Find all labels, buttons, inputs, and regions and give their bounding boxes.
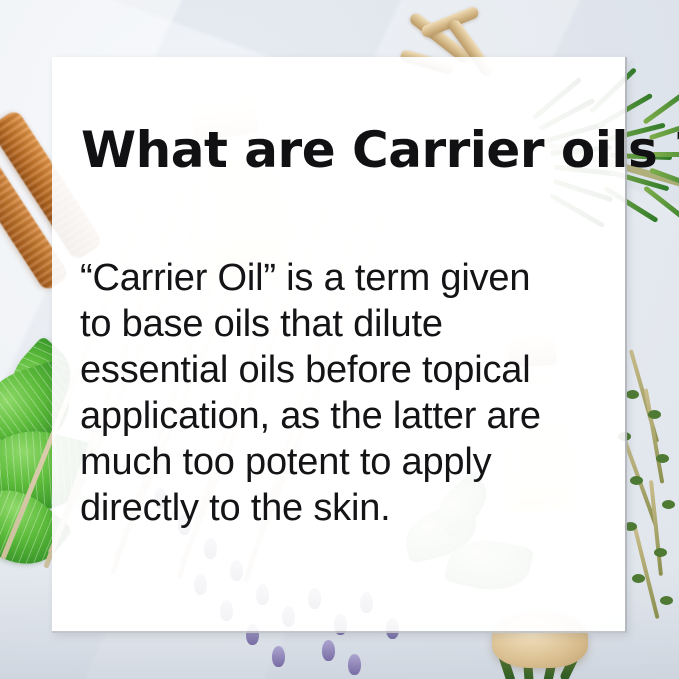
thyme-leaf [632, 574, 645, 583]
thyme-stem [649, 480, 663, 576]
rosemary-needle [643, 185, 679, 227]
lavender-bud [322, 640, 335, 661]
body-line: to base oils that dilute [80, 301, 616, 347]
body-line: application, as the latter are [80, 393, 616, 439]
body-line: essential oils before topical [80, 347, 616, 393]
lavender-bud [272, 646, 285, 667]
rosemary-needle [642, 84, 679, 124]
thyme-leaf [626, 390, 639, 399]
thyme-stem [644, 388, 665, 483]
thyme-leaf [630, 476, 643, 485]
thyme-leaf [648, 410, 661, 419]
panel-content: What are Carrier oils ? “Carrier Oil” is… [52, 57, 625, 631]
text-overlay-panel: What are Carrier oils ? “Carrier Oil” is… [52, 57, 627, 633]
lavender-bud [348, 654, 361, 675]
body-line: much too potent to apply [80, 439, 616, 485]
thyme-leaf [654, 548, 667, 557]
body-line: directly to the skin. [80, 485, 616, 531]
page-title: What are Carrier oils ? [81, 122, 601, 178]
infographic-card: What are Carrier oils ? “Carrier Oil” is… [0, 0, 679, 679]
body-line: “Carrier Oil” is a term given [80, 255, 616, 301]
body-paragraph: “Carrier Oil” is a term given to base oi… [80, 255, 616, 531]
thyme-leaf [660, 596, 673, 605]
thyme-leaf [656, 454, 669, 463]
thyme-leaf [662, 500, 675, 509]
